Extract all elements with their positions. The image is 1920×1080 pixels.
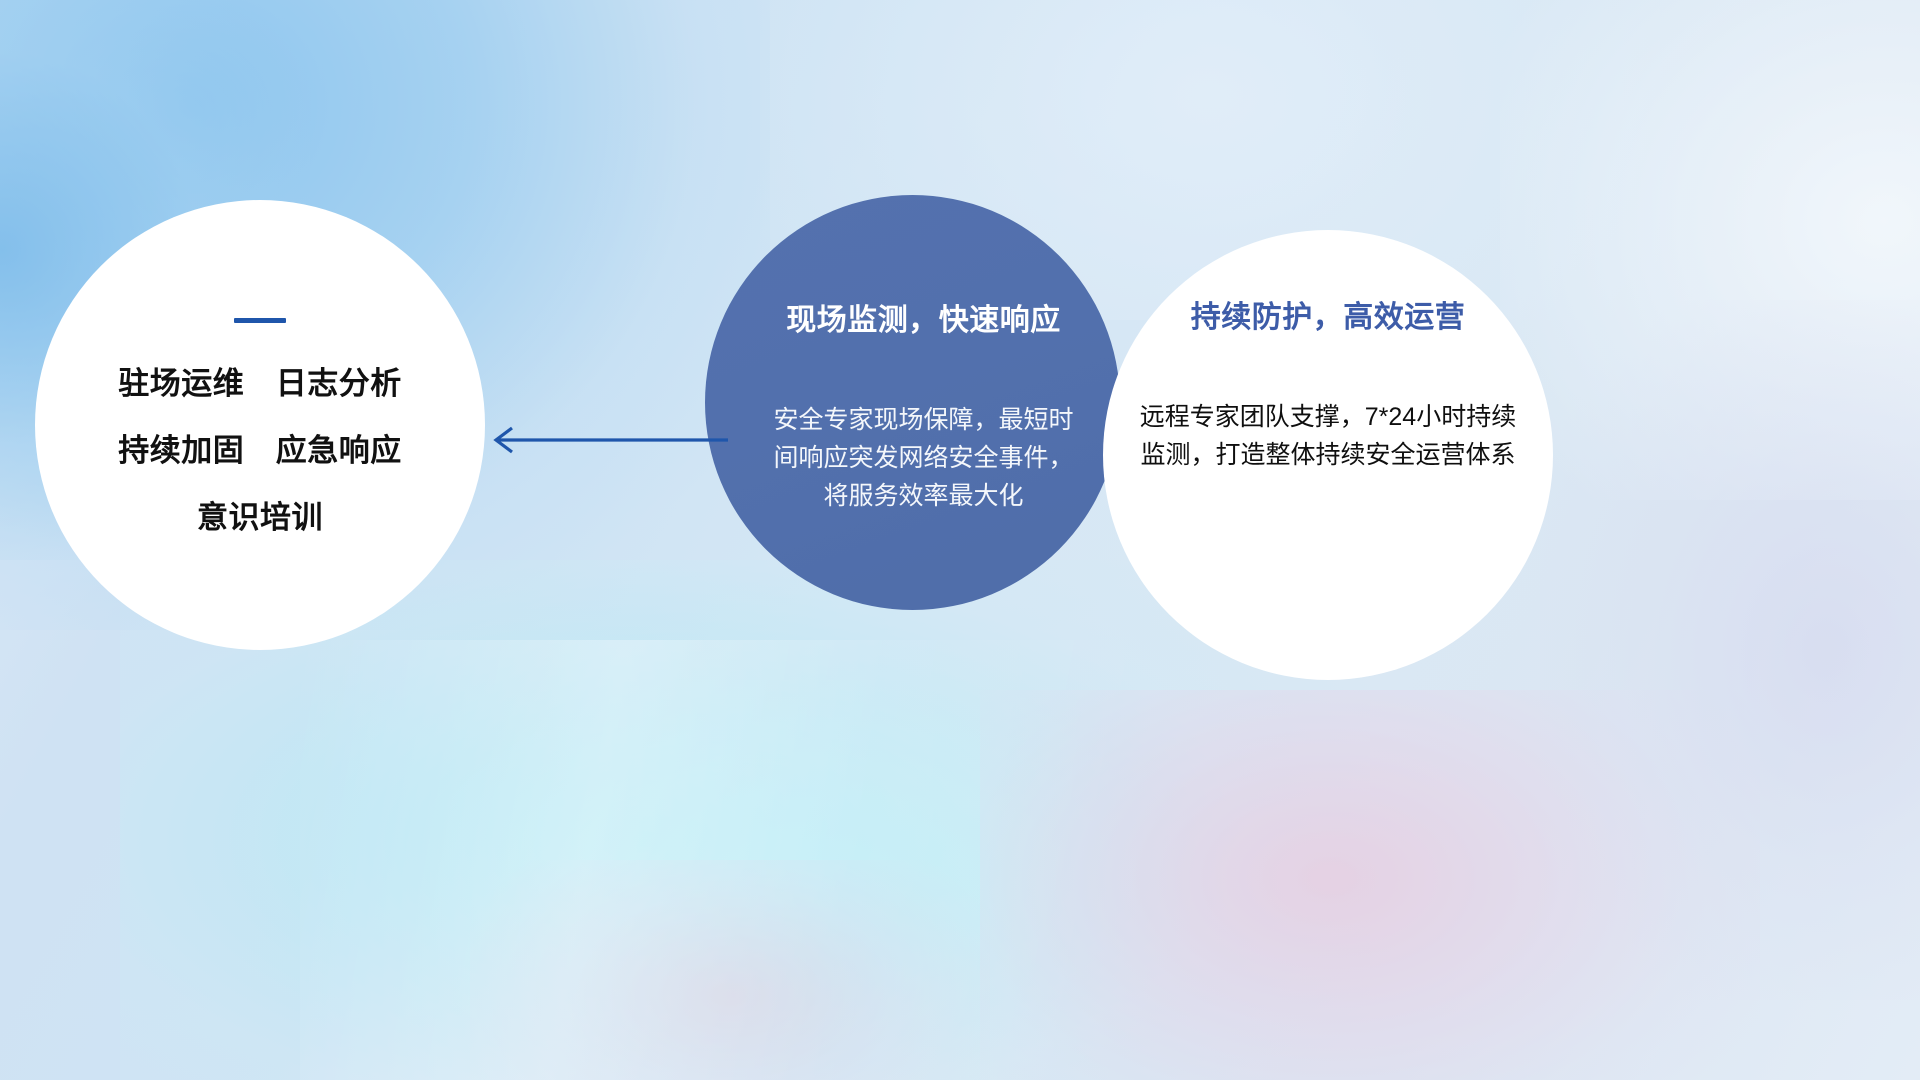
right-circle-content: 持续防护，高效运营 远程专家团队支撑，7*24小时持续监测，打造整体持续安全运营… xyxy=(1103,230,1553,680)
middle-circle-body: 安全专家现场保障，最短时间响应突发网络安全事件，将服务效率最大化 xyxy=(774,401,1074,515)
left-circle-divider xyxy=(234,318,286,323)
left-circle-line-2: 持续加固 应急响应 xyxy=(118,435,402,466)
right-circle-body: 远程专家团队支撑，7*24小时持续监测，打造整体持续安全运营体系 xyxy=(1128,398,1528,474)
middle-circle-title: 现场监测，快速响应 xyxy=(786,295,1061,339)
left-circle-line-1: 驻场运维 日志分析 xyxy=(118,368,402,399)
background-light-streak xyxy=(300,640,1700,1080)
right-circle-title: 持续防护，高效运营 xyxy=(1191,292,1466,336)
flow-arrow-left xyxy=(480,415,730,465)
left-circle-content: 驻场运维 日志分析 持续加固 应急响应 意识培训 xyxy=(35,200,485,650)
left-circle-line-3: 意识培训 xyxy=(197,502,323,533)
middle-circle-content: 现场监测，快速响应 安全专家现场保障，最短时间响应突发网络安全事件，将服务效率最… xyxy=(705,195,1120,610)
